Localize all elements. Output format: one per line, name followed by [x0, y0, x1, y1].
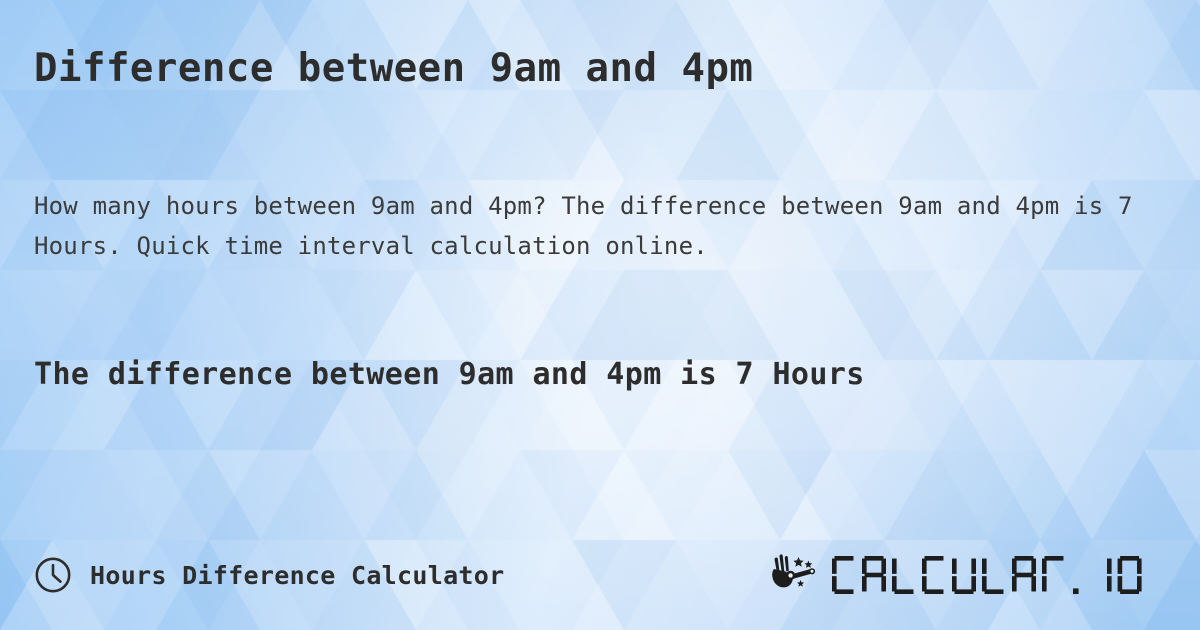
footer-branding-left: Hours Difference Calculator: [34, 556, 504, 594]
result-statement: The difference between 9am and 4pm is 7 …: [34, 357, 865, 392]
brand-wordmark: [832, 552, 1148, 598]
brand-logo[interactable]: [770, 551, 1148, 599]
footer-label: Hours Difference Calculator: [90, 561, 504, 590]
page-container: Difference between 9am and 4pm How many …: [0, 0, 1200, 630]
clock-icon: [34, 556, 72, 594]
magic-wand-hand-icon: [770, 551, 826, 599]
footer: Hours Difference Calculator: [0, 520, 1200, 630]
intro-paragraph: How many hours between 9am and 4pm? The …: [34, 186, 1144, 266]
page-title: Difference between 9am and 4pm: [34, 47, 753, 92]
